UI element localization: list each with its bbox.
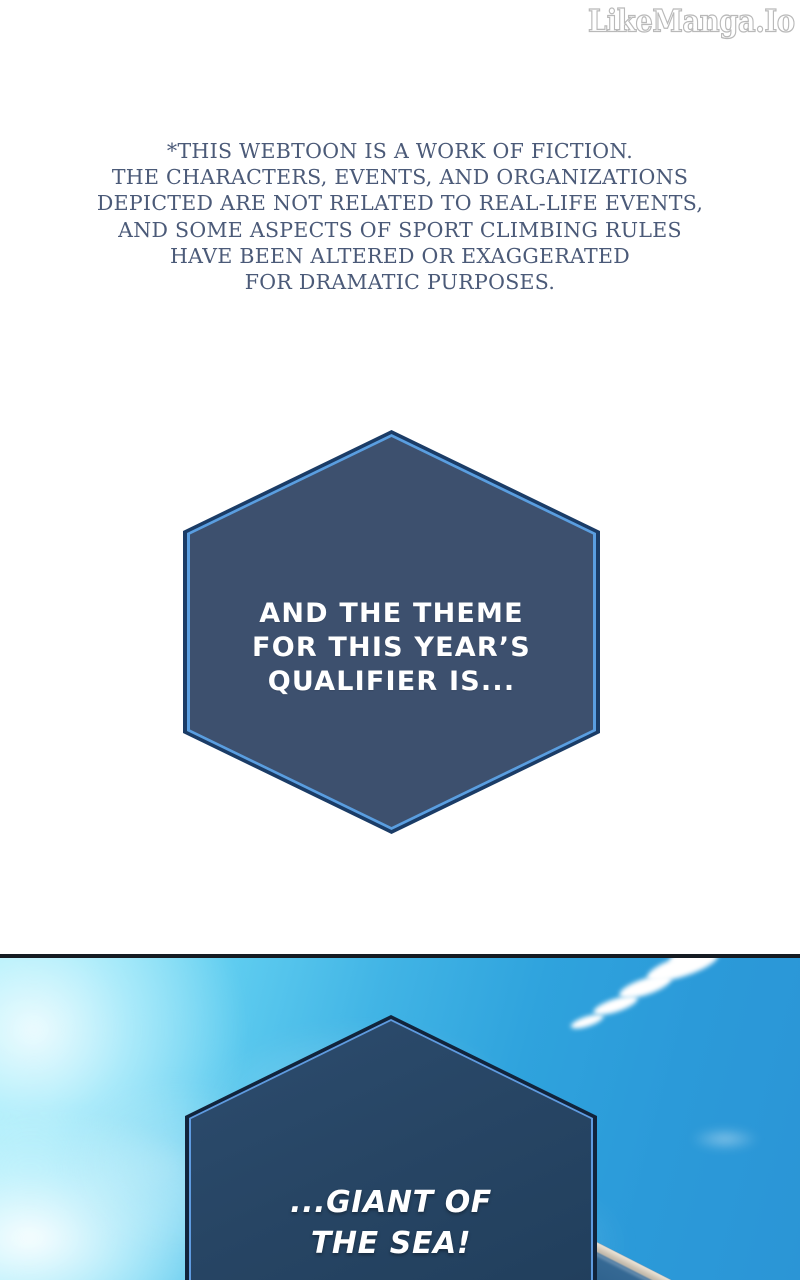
panel-divider	[0, 954, 800, 958]
webtoon-page: LikeManga.Io *THIS WEBTOON IS A WORK OF …	[0, 0, 800, 1280]
speech-bubble-hexagon-giant: ...GIANT OF THE SEA!	[185, 1015, 597, 1280]
disclaimer-panel: *THIS WEBTOON IS A WORK OF FICTION. THE …	[0, 0, 800, 956]
speech-bubble-text: AND THE THEME FOR THIS YEAR’S QUALIFIER …	[183, 597, 600, 699]
site-watermark: LikeManga.Io	[588, 4, 795, 40]
sky-panel: ...GIANT OF THE SEA!	[0, 958, 800, 1280]
disclaimer-text: *THIS WEBTOON IS A WORK OF FICTION. THE …	[0, 138, 800, 295]
speech-bubble-hexagon-theme: AND THE THEME FOR THIS YEAR’S QUALIFIER …	[183, 430, 600, 834]
faint-cloud	[690, 1128, 760, 1150]
speech-bubble-text: ...GIANT OF THE SEA!	[185, 1182, 597, 1264]
